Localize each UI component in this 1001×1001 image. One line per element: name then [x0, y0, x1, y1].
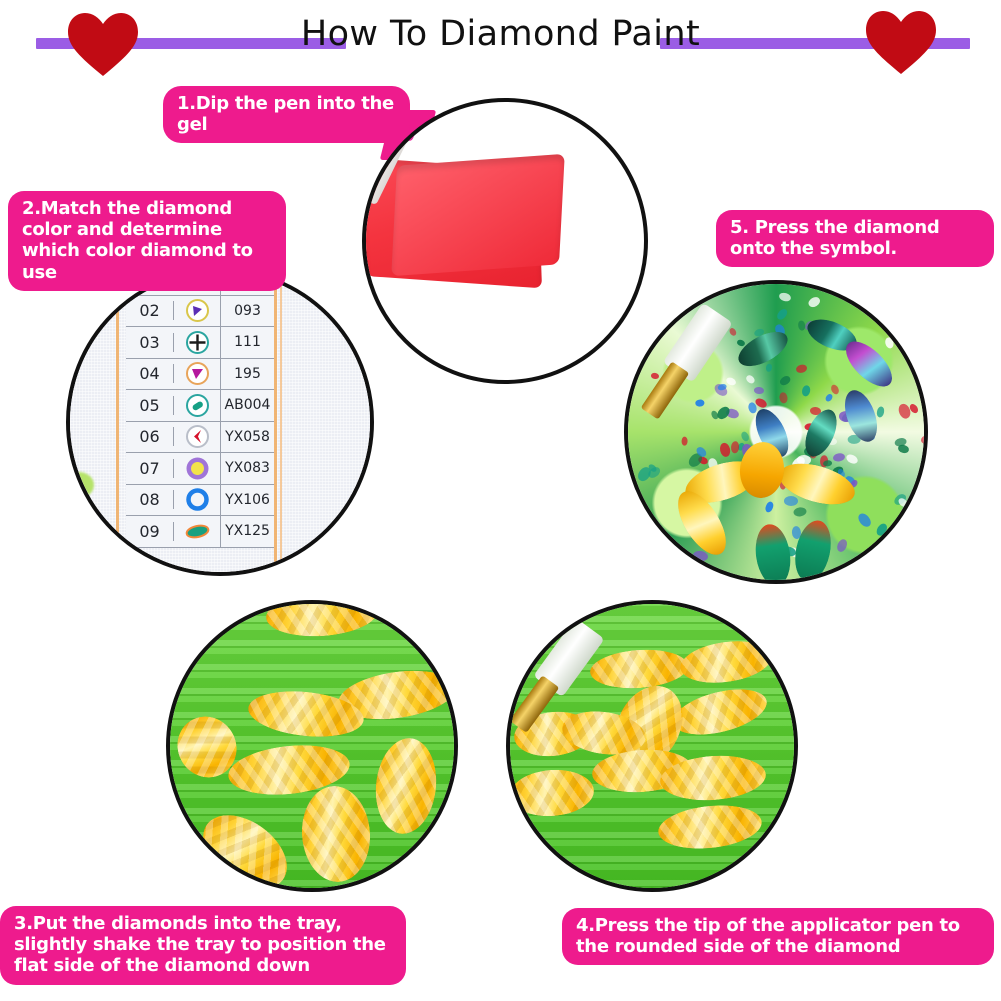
chart-row-code: 111 — [221, 334, 274, 350]
photo-pen-picking-up-diamond — [506, 600, 798, 892]
gel-pad-top — [391, 154, 565, 276]
color-chart-row: 02093 — [126, 296, 274, 328]
callout-step-3: 3.Put the diamonds into the tray, slight… — [0, 906, 406, 985]
chart-row-code: YX106 — [221, 492, 274, 508]
filled-circle-icon — [174, 453, 221, 484]
ring-icon — [174, 485, 221, 516]
chart-row-number: 05 — [126, 396, 174, 415]
callout-step-1: 1.Dip the pen into the gel — [163, 86, 410, 143]
triangle-down-icon — [174, 359, 221, 390]
chart-row-code: YX083 — [221, 460, 274, 476]
color-chart-row: 03111 — [126, 327, 274, 359]
chart-margin-line — [274, 272, 277, 572]
page-title: How To Diamond Paint — [0, 14, 1001, 54]
color-chart-table: 0102602093031110419505AB00406YX05807YX08… — [126, 268, 274, 548]
color-chart-row: 09YX125 — [126, 516, 274, 548]
infographic-page: How To Diamond Paint 0102602093031110419… — [0, 0, 1001, 1001]
photo-diamonds-in-tray — [166, 600, 458, 892]
callout-step-2: 2.Match the diamond color and determine … — [8, 191, 286, 291]
canvas-symbol-dot — [694, 399, 704, 406]
color-chart-row: 04195 — [126, 359, 274, 391]
photo-diamond-color-chart: 0102602093031110419505AB00406YX05807YX08… — [66, 268, 374, 576]
callout-step-5: 5. Press the diamond onto the symbol. — [716, 210, 994, 267]
canvas-symbol-dot — [754, 387, 764, 394]
chart-row-code: 093 — [221, 303, 274, 319]
callout-step-4: 4.Press the tip of the applicator pen to… — [562, 908, 994, 965]
color-chart-row: 06YX058 — [126, 422, 274, 454]
arrow-left-icon — [174, 422, 221, 453]
photo-diamond-pressed-on-canvas — [624, 280, 928, 584]
chart-row-number: 09 — [126, 522, 174, 541]
chart-row-number: 06 — [126, 427, 174, 446]
chart-margin-line — [116, 272, 119, 572]
color-chart-row: 08YX106 — [126, 485, 274, 517]
color-chart-row: 07YX083 — [126, 453, 274, 485]
color-chart-row: 05AB004 — [126, 390, 274, 422]
chart-row-code: AB004 — [221, 397, 274, 413]
canvas-symbol-dot — [681, 436, 687, 445]
chart-row-number: 02 — [126, 301, 174, 320]
chart-row-number: 03 — [126, 333, 174, 352]
chart-row-code: YX125 — [221, 523, 274, 539]
leaf-icon — [174, 516, 221, 547]
chart-row-number: 07 — [126, 459, 174, 478]
chart-row-code: 195 — [221, 366, 274, 382]
triangle-icon — [174, 296, 221, 327]
chart-row-number: 04 — [126, 364, 174, 383]
paper-smudge — [82, 527, 104, 547]
chart-row-number: 08 — [126, 490, 174, 509]
chart-margin-line — [280, 272, 282, 572]
capsule-icon — [174, 390, 221, 421]
chart-row-code: YX058 — [221, 429, 274, 445]
photo-pen-dipped-in-gel — [362, 98, 648, 384]
plus-icon — [174, 327, 221, 358]
